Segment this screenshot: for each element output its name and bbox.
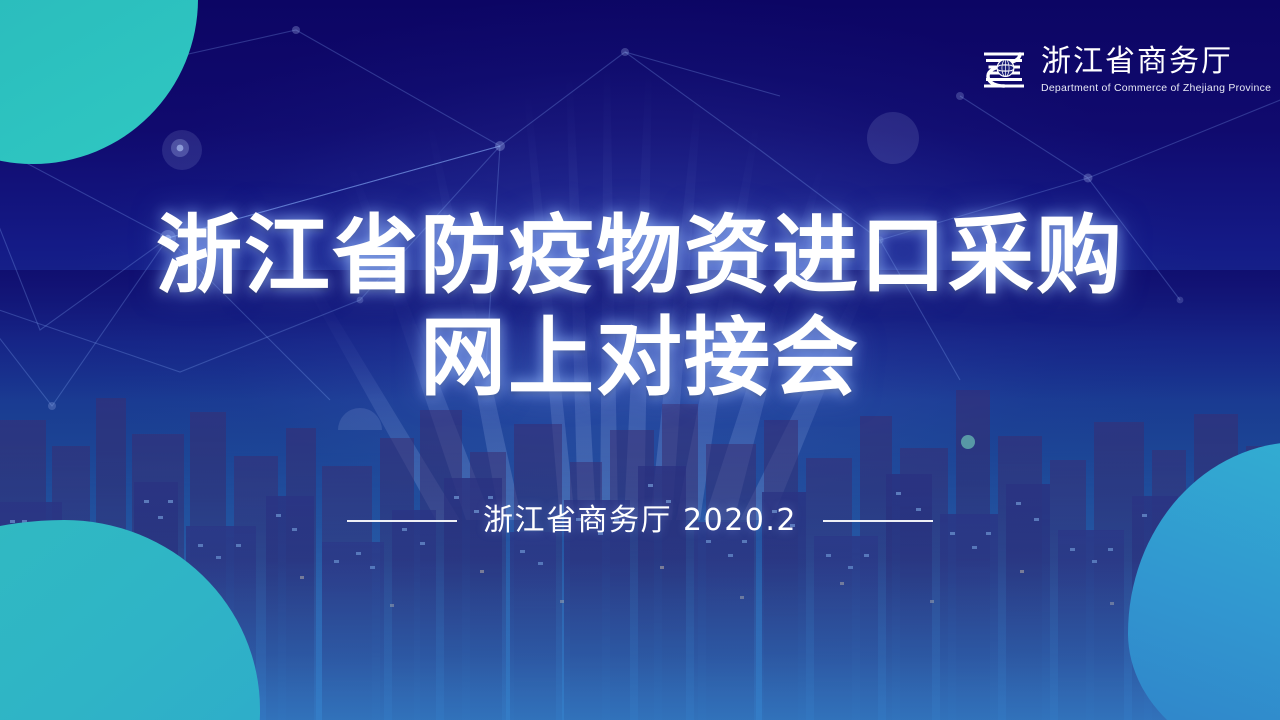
subtitle-rule-right <box>823 520 933 522</box>
subtitle-text: 浙江省商务厅 2020.2 <box>483 499 797 543</box>
subtitle-rule-left <box>347 520 457 522</box>
presentation-slide: 浙江省商务厅 Department of Commerce of Zhejian… <box>0 0 1280 720</box>
logo-name-cn: 浙江省商务厅 <box>1041 45 1271 79</box>
zhejiang-commerce-swirl-globe-icon <box>978 44 1030 96</box>
title-line-1: 浙江省防疫物资进口采购 <box>0 205 1280 307</box>
title-line-2: 网上对接会 <box>0 307 1280 409</box>
title-block: 浙江省防疫物资进口采购 网上对接会 <box>0 205 1280 409</box>
organization-logo: 浙江省商务厅 Department of Commerce of Zhejian… <box>978 44 1271 96</box>
logo-name-en: Department of Commerce of Zhejiang Provi… <box>1041 81 1271 95</box>
subtitle-row: 浙江省商务厅 2020.2 <box>0 499 1280 543</box>
logo-text-block: 浙江省商务厅 Department of Commerce of Zhejian… <box>1041 44 1271 95</box>
